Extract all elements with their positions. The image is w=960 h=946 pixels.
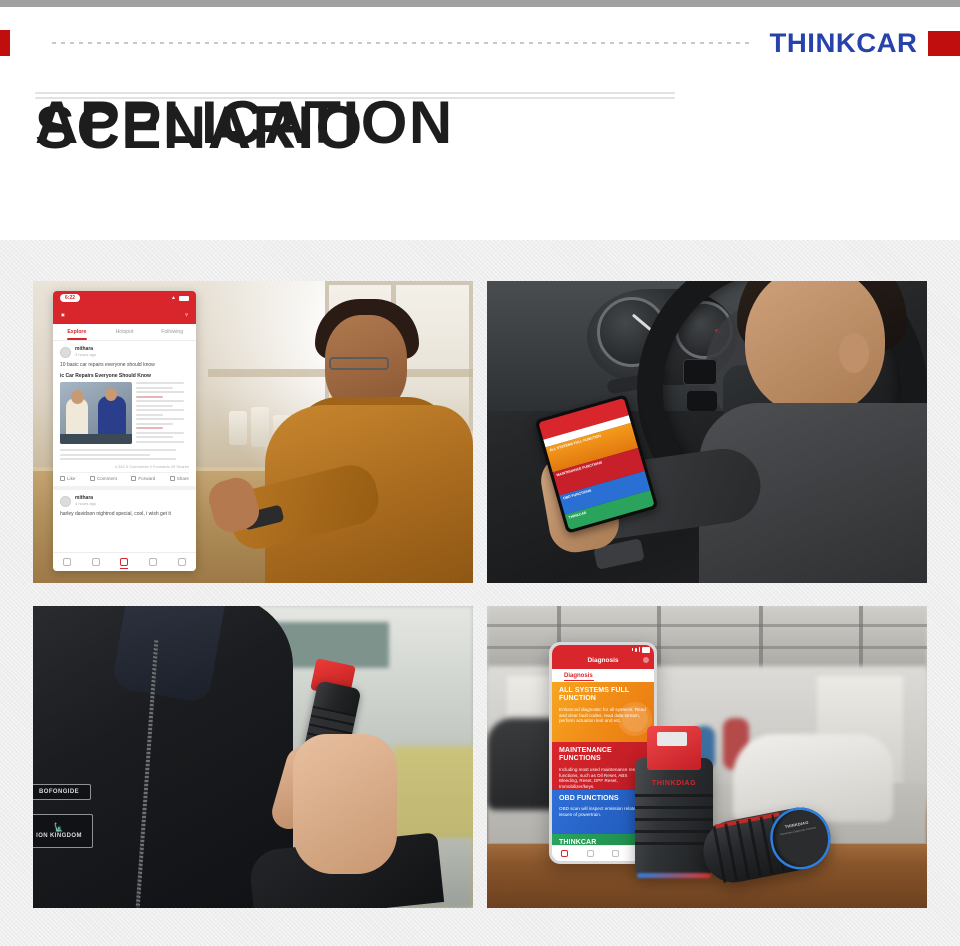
obd-connector-slot (657, 732, 687, 746)
post-timestamp: 3 hours ago (75, 352, 96, 358)
signal-icon (635, 648, 637, 652)
roof-beam (759, 606, 763, 672)
feed-post[interactable]: mithara 3 hours ago 10 basic car repairs… (53, 341, 196, 490)
feed-post[interactable]: mithara 4 hours ago harley davidson nigh… (53, 490, 196, 523)
nav-shop-icon[interactable] (587, 850, 594, 857)
share-label: Share (177, 476, 189, 481)
post-header: mithara 3 hours ago (60, 346, 189, 358)
post-timestamp: 4 hours ago (75, 501, 96, 507)
background-jar (251, 407, 269, 447)
post-text: harley davidson nightrod special, cool, … (60, 511, 189, 518)
card-obd-title: OBD FUNCTIONS (559, 795, 647, 803)
signal-icon (639, 647, 641, 652)
nav-community-icon[interactable] (120, 558, 128, 566)
page-title: APPLICATION SCENARIO (35, 92, 675, 101)
share-action[interactable]: Share (170, 476, 189, 481)
nav-home-icon[interactable] (561, 850, 568, 857)
card-thinkcar-title: THINKCAR (559, 839, 647, 845)
like-label: Like (67, 476, 75, 481)
card-all-systems-title: ALL SYSTEMS FULL FUNCTION (559, 687, 647, 704)
post-text: 10 basic car repairs everyone should kno… (60, 362, 189, 369)
dotted-divider (52, 42, 752, 44)
app-title-bar: Diagnosis (552, 654, 654, 669)
roof-beam (657, 606, 661, 672)
steering-wheel-buttons (687, 391, 717, 411)
search-icon[interactable]: ⚲ (185, 312, 188, 317)
right-red-marker (928, 31, 960, 56)
person-hand (293, 734, 397, 874)
comment-label: Comment (97, 476, 117, 481)
card-obd-body: OBD scan will inspect emission related i… (559, 806, 647, 818)
eyeglasses-icon (329, 357, 389, 370)
forward-action[interactable]: Forward (131, 476, 155, 481)
person-ear (839, 333, 869, 373)
like-action[interactable]: Like (60, 476, 75, 481)
app-status-bar: 6:22 ▲ (53, 291, 196, 305)
menu-icon[interactable] (643, 657, 649, 663)
forward-icon (131, 476, 136, 481)
camera-icon[interactable]: ▣ (61, 312, 65, 317)
card-maintenance-body: Including most used maintenance reset fu… (559, 767, 647, 790)
avatar (60, 347, 71, 358)
jacket-patch: BOFONGIDE (33, 784, 91, 800)
brand-row: THINKCAR (0, 30, 960, 58)
scenario-photo-in-car-diagnosis[interactable]: ALL SYSTEMS FULL FUNCTION MAINTENANCE FU… (487, 281, 927, 583)
steering-wheel-buttons (683, 359, 717, 385)
comment-icon (90, 476, 95, 481)
nav-shop-icon[interactable] (92, 558, 100, 566)
wifi-icon: ▲ (171, 295, 176, 301)
card-maintenance-title: MAINTENANCE FUNCTIONS (559, 747, 647, 764)
eagle-icon: 🗽 (54, 824, 64, 832)
app-header: 6:22 ▲ ▣ ⚲ (53, 291, 196, 324)
signal-icon (632, 648, 634, 651)
scenario-photo-social-community-app[interactable]: 6:22 ▲ ▣ ⚲ Explore Hotspot Following (33, 281, 473, 583)
comment-action[interactable]: Comment (90, 476, 117, 481)
share-icon (170, 476, 175, 481)
post-stats: 4,344 3 Comments 0 Forwards 29 Shares (60, 464, 189, 469)
tab-diagnosis[interactable]: Diagnosis (552, 669, 654, 682)
card-all-systems-full-function[interactable]: ALL SYSTEMS FULL FUNCTION Enhanced diagn… (552, 682, 654, 742)
post-image-figure-head (71, 390, 84, 404)
left-red-marker (0, 30, 10, 56)
tab-following[interactable]: Following (148, 324, 196, 341)
status-time: 6:22 (60, 294, 80, 302)
top-gray-strip (0, 0, 960, 7)
post-image (60, 382, 132, 444)
content-area: 6:22 ▲ ▣ ⚲ Explore Hotspot Following (0, 240, 960, 946)
jacket-patch: 🗽 ION KINGDOM (33, 814, 93, 848)
app-tab-bar: Explore Hotspot Following (53, 324, 196, 341)
post-action-bar: Like Comment Forward Share (60, 472, 189, 481)
thinkdiag-dongle: THINKDIAG (635, 758, 713, 876)
post-header: mithara 4 hours ago (60, 495, 189, 507)
brand-logo-thinkcar: THINKCAR (770, 27, 918, 59)
avatar (60, 496, 71, 507)
thumbs-up-icon (60, 476, 65, 481)
gear-icon (622, 706, 648, 732)
battery-icon (179, 296, 189, 301)
post-more-lines (60, 449, 189, 460)
app-bottom-nav (53, 552, 196, 571)
app-title-label: Diagnosis (587, 657, 618, 664)
app-nav-row: ▣ ⚲ (53, 305, 196, 324)
battery-icon (642, 647, 650, 653)
post-body (60, 382, 189, 445)
nav-profile-icon[interactable] (178, 558, 186, 566)
status-icons: ▲ (171, 295, 189, 301)
community-app-screen[interactable]: 6:22 ▲ ▣ ⚲ Explore Hotspot Following (53, 291, 196, 571)
page-title-line-2: SCENARIO (35, 97, 675, 99)
post-image-car (60, 434, 132, 444)
tab-hotspot[interactable]: Hotspot (101, 324, 149, 341)
page-header: THINKCAR APPLICATION SCENARIO (0, 7, 960, 240)
scenario-photo-workshop-devices[interactable]: Diagnosis Diagnosis ALL SYSTEMS FULL FUN… (487, 606, 927, 908)
post-text-lines (136, 382, 189, 445)
jacket-collar (111, 606, 225, 704)
dongle-grip-ribs (635, 794, 713, 854)
post-image-mechanic-head (105, 388, 117, 401)
nav-home-icon[interactable] (63, 558, 71, 566)
scenario-image-grid: 6:22 ▲ ▣ ⚲ Explore Hotspot Following (33, 281, 927, 910)
background-jar (229, 411, 247, 445)
nav-community-icon[interactable] (612, 850, 619, 857)
jacket-patch-label: ION KINGDOM (36, 833, 82, 839)
forward-label: Forward (138, 476, 155, 481)
scenario-photo-handheld-scanner[interactable]: BOFONGIDE 🗽 ION KINGDOM (33, 606, 473, 908)
background-car-white (733, 734, 893, 822)
thinkdiag-brand-label: THINKDIAG (635, 780, 713, 787)
dongle-led-glow (637, 873, 711, 878)
nav-messages-icon[interactable] (149, 558, 157, 566)
app-status-bar (552, 645, 654, 654)
roof-beam (859, 606, 863, 672)
post-headline: ic Car Repairs Everyone Should Know (60, 373, 189, 379)
tab-explore[interactable]: Explore (53, 324, 101, 341)
